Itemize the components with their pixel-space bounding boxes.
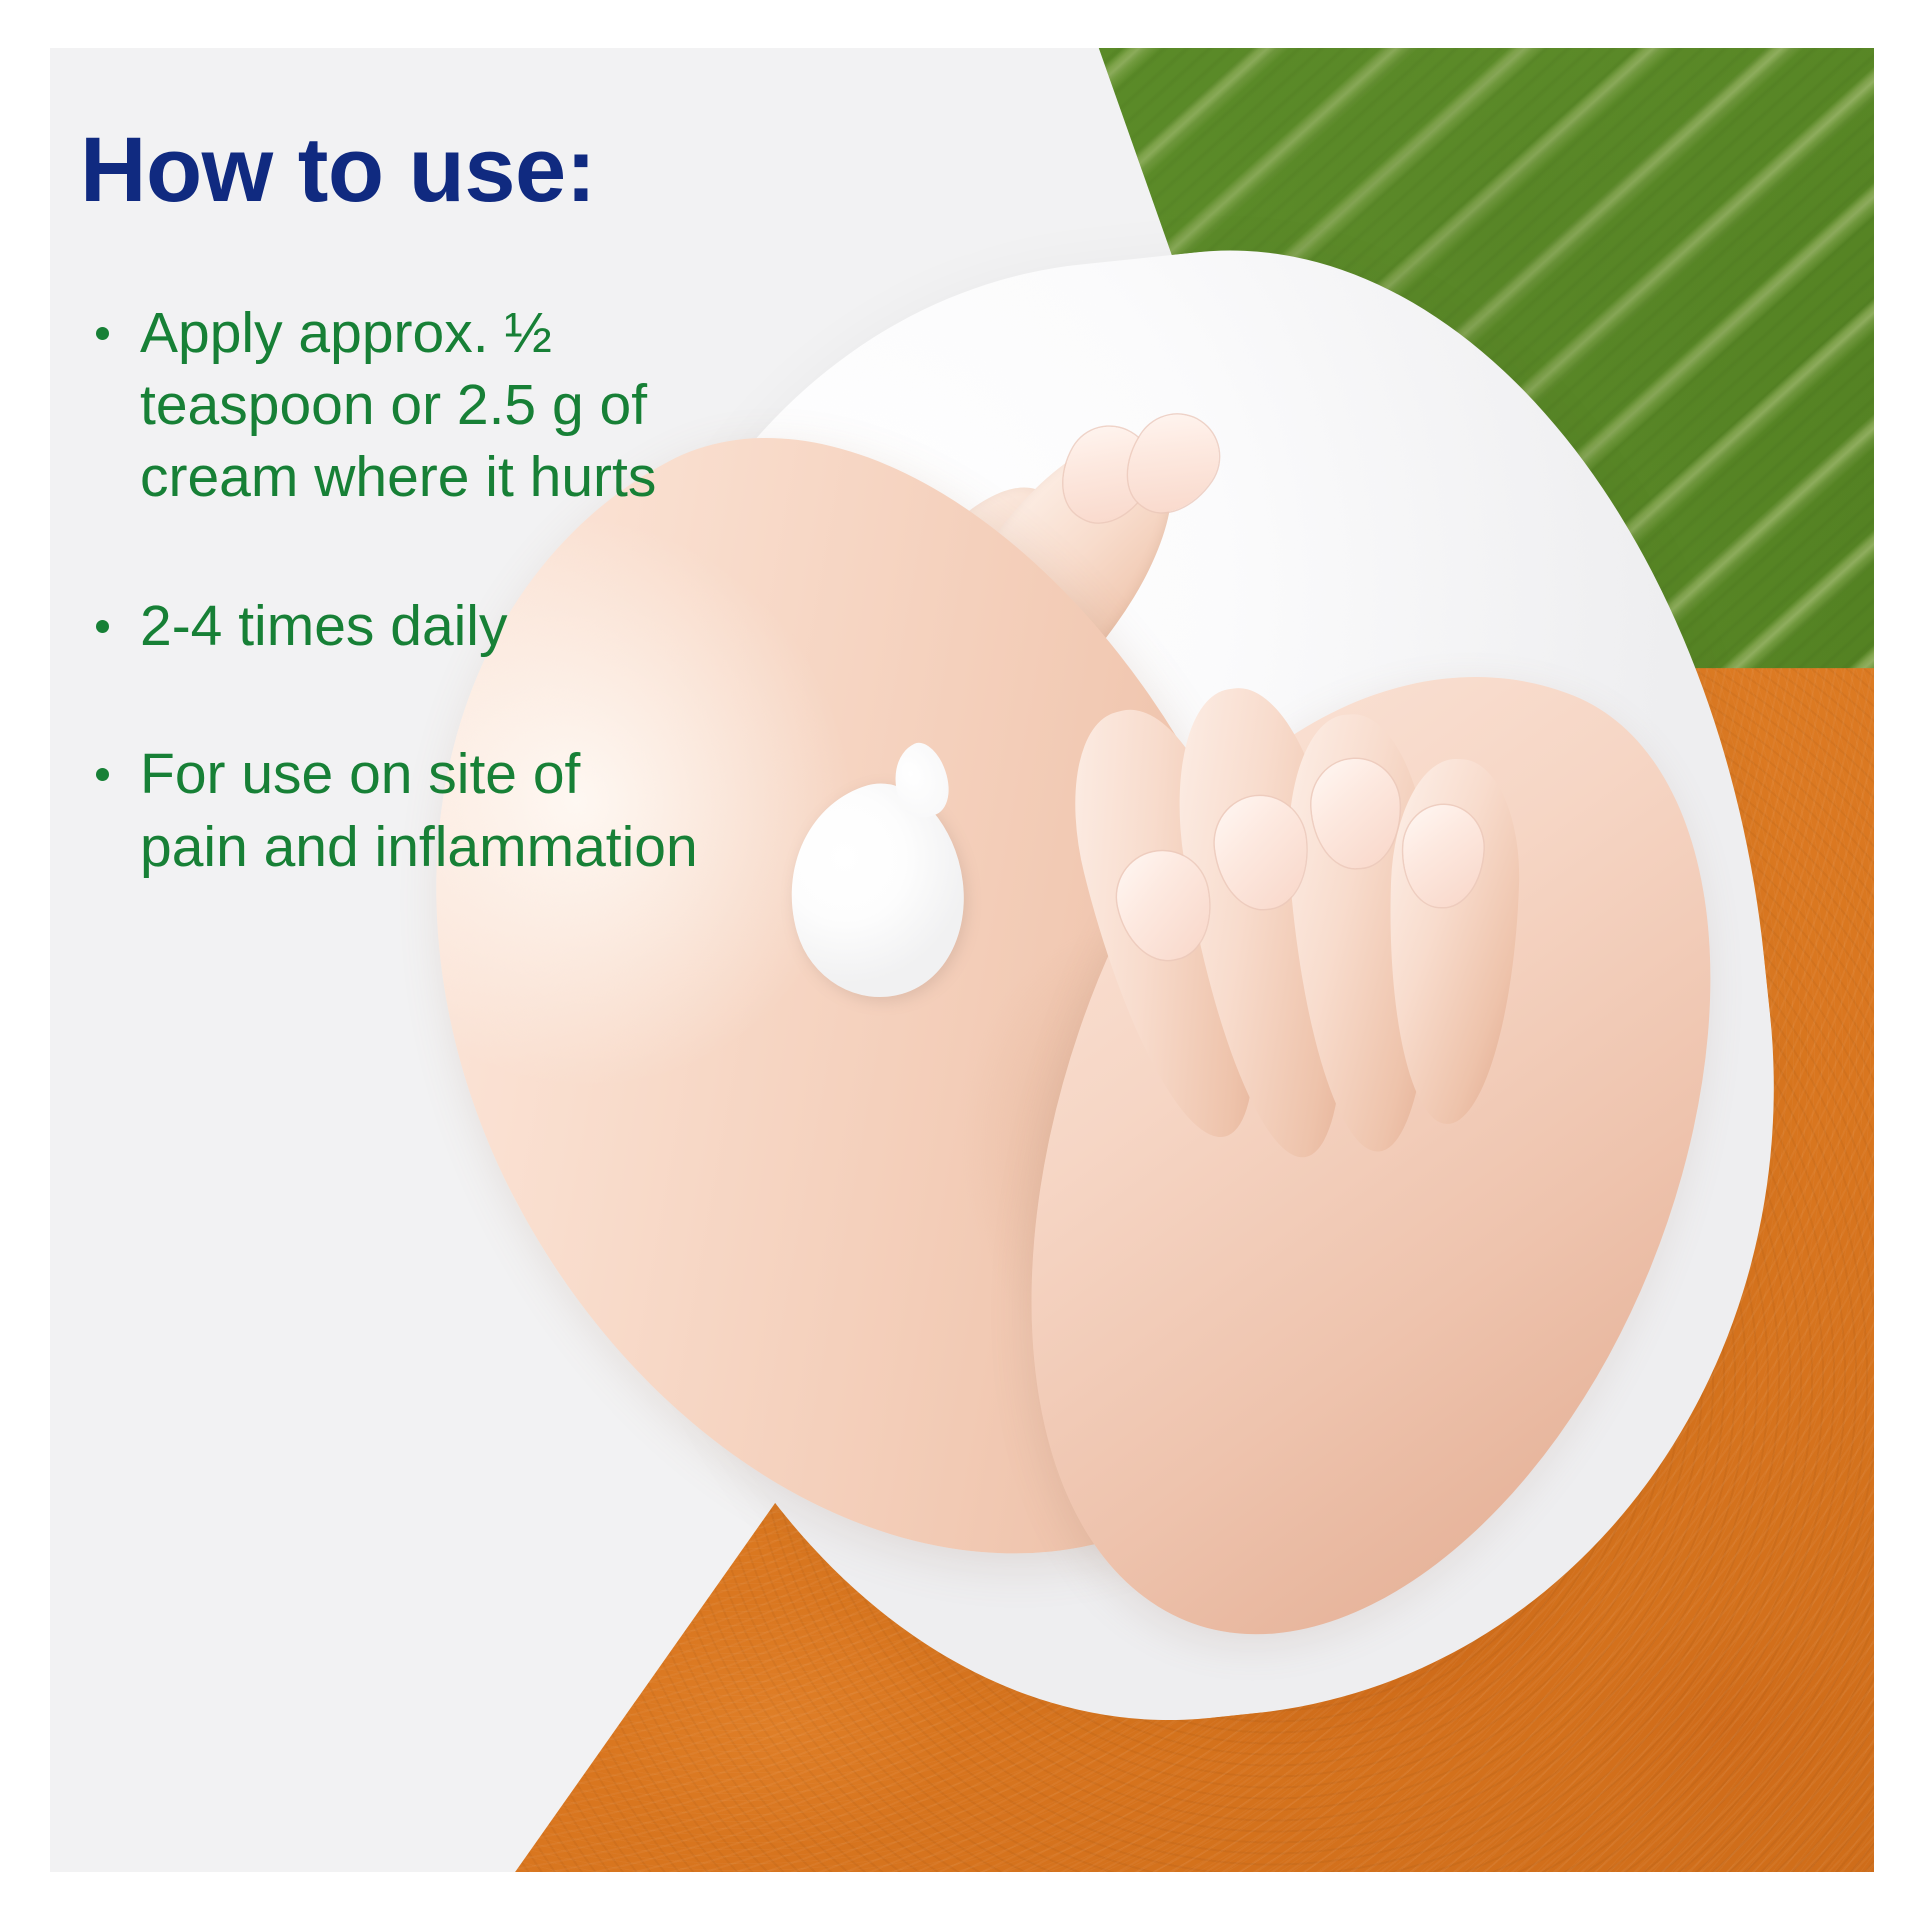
bullet-dot-icon — [96, 768, 109, 781]
list-item: 2-4 times daily — [80, 590, 700, 662]
bullet-dot-icon — [96, 620, 109, 633]
list-item-label: 2-4 times daily — [140, 594, 507, 658]
poster-canvas: How to use: Apply approx. ½ teaspoon or … — [50, 48, 1874, 1872]
poster: How to use: Apply approx. ½ teaspoon or … — [0, 0, 1920, 1920]
list-item-label: Apply approx. ½ teaspoon or 2.5 g of cre… — [140, 301, 656, 510]
list-item-label: For use on site of pain and inflammation — [140, 742, 698, 878]
instructions-list: Apply approx. ½ teaspoon or 2.5 g of cre… — [80, 297, 700, 883]
list-item: Apply approx. ½ teaspoon or 2.5 g of cre… — [80, 297, 700, 514]
bullet-dot-icon — [96, 327, 109, 340]
list-item: For use on site of pain and inflammation — [80, 738, 700, 883]
page-title: How to use: — [80, 123, 700, 219]
instructions-panel: How to use: Apply approx. ½ teaspoon or … — [80, 123, 700, 883]
